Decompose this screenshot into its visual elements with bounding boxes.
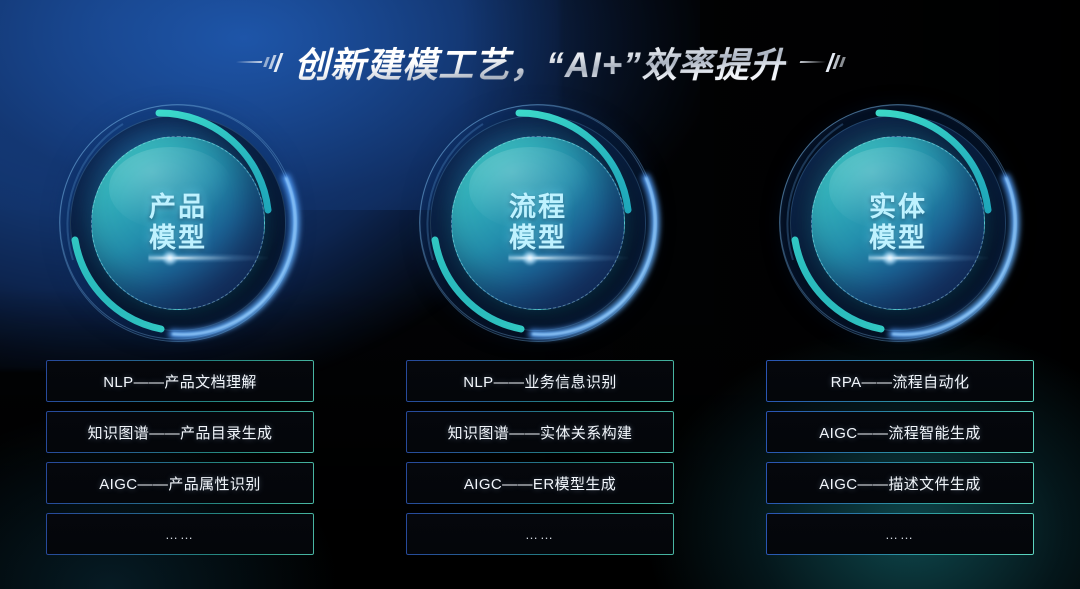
list-item-label: 知识图谱——产品目录生成 <box>88 422 273 443</box>
title-decoration-right-icon <box>800 49 844 75</box>
list-item[interactable]: AIGC——ER模型生成 <box>406 462 674 504</box>
list-item[interactable]: RPA——流程自动化 <box>766 360 1034 402</box>
list-item-label: AIGC——描述文件生成 <box>819 473 980 494</box>
list-item-label: AIGC——ER模型生成 <box>464 473 616 494</box>
list-item-more[interactable]: …… <box>406 513 674 555</box>
circle-label: 实体 模型 <box>869 192 927 254</box>
item-list-entity-model: RPA——流程自动化 AIGC——流程智能生成 AIGC——描述文件生成 …… <box>766 360 1034 555</box>
circle-label-line1: 流程 <box>509 192 567 223</box>
list-item-label: NLP——业务信息识别 <box>463 371 617 392</box>
circle-label-line1: 实体 <box>869 192 927 223</box>
circle-badge-product-model[interactable]: 产品 模型 <box>53 100 307 340</box>
column-entity-model: 实体 模型 RPA——流程自动化 AIGC——流程智能生成 AIGC——描述文件… <box>720 96 1080 566</box>
list-item-label: …… <box>165 527 195 542</box>
list-item-label: RPA——流程自动化 <box>831 371 970 392</box>
page-title: 创新建模工艺，“AI+”效率提升 <box>294 37 785 88</box>
list-item[interactable]: NLP——业务信息识别 <box>406 360 674 402</box>
list-item-label: AIGC——产品属性识别 <box>99 473 260 494</box>
column-product-model: 产品 模型 NLP——产品文档理解 知识图谱——产品目录生成 AIGC——产品属… <box>0 96 360 566</box>
circle-inner-disc: 流程 模型 <box>451 136 625 310</box>
list-item-label: …… <box>885 527 915 542</box>
circle-label-line2: 模型 <box>149 223 207 254</box>
list-item-label: NLP——产品文档理解 <box>103 371 257 392</box>
model-columns: 产品 模型 NLP——产品文档理解 知识图谱——产品目录生成 AIGC——产品属… <box>0 96 1080 566</box>
column-process-model: 流程 模型 NLP——业务信息识别 知识图谱——实体关系构建 AIGC——ER模… <box>360 96 720 566</box>
item-list-process-model: NLP——业务信息识别 知识图谱——实体关系构建 AIGC——ER模型生成 …… <box>406 360 674 555</box>
slide-title-bar: 创新建模工艺，“AI+”效率提升 <box>0 36 1080 88</box>
list-item[interactable]: AIGC——描述文件生成 <box>766 462 1034 504</box>
circle-inner-disc: 实体 模型 <box>811 136 985 310</box>
item-list-product-model: NLP——产品文档理解 知识图谱——产品目录生成 AIGC——产品属性识别 …… <box>46 360 314 555</box>
list-item-more[interactable]: …… <box>46 513 314 555</box>
list-item-label: AIGC——流程智能生成 <box>819 422 980 443</box>
list-item[interactable]: AIGC——流程智能生成 <box>766 411 1034 453</box>
circle-badge-entity-model[interactable]: 实体 模型 <box>773 100 1027 340</box>
circle-label-line1: 产品 <box>149 192 207 223</box>
circle-badge-process-model[interactable]: 流程 模型 <box>413 100 667 340</box>
slide-canvas: 创新建模工艺，“AI+”效率提升 <box>0 0 1080 589</box>
list-item-more[interactable]: …… <box>766 513 1034 555</box>
list-item[interactable]: NLP——产品文档理解 <box>46 360 314 402</box>
list-item-label: …… <box>525 527 555 542</box>
circle-label: 产品 模型 <box>149 192 207 254</box>
list-item[interactable]: AIGC——产品属性识别 <box>46 462 314 504</box>
list-item[interactable]: 知识图谱——产品目录生成 <box>46 411 314 453</box>
circle-label-line2: 模型 <box>869 223 927 254</box>
circle-label-line2: 模型 <box>509 223 567 254</box>
title-decoration-left-icon <box>236 49 280 75</box>
list-item[interactable]: 知识图谱——实体关系构建 <box>406 411 674 453</box>
circle-label: 流程 模型 <box>509 192 567 254</box>
list-item-label: 知识图谱——实体关系构建 <box>448 422 633 443</box>
circle-inner-disc: 产品 模型 <box>91 136 265 310</box>
